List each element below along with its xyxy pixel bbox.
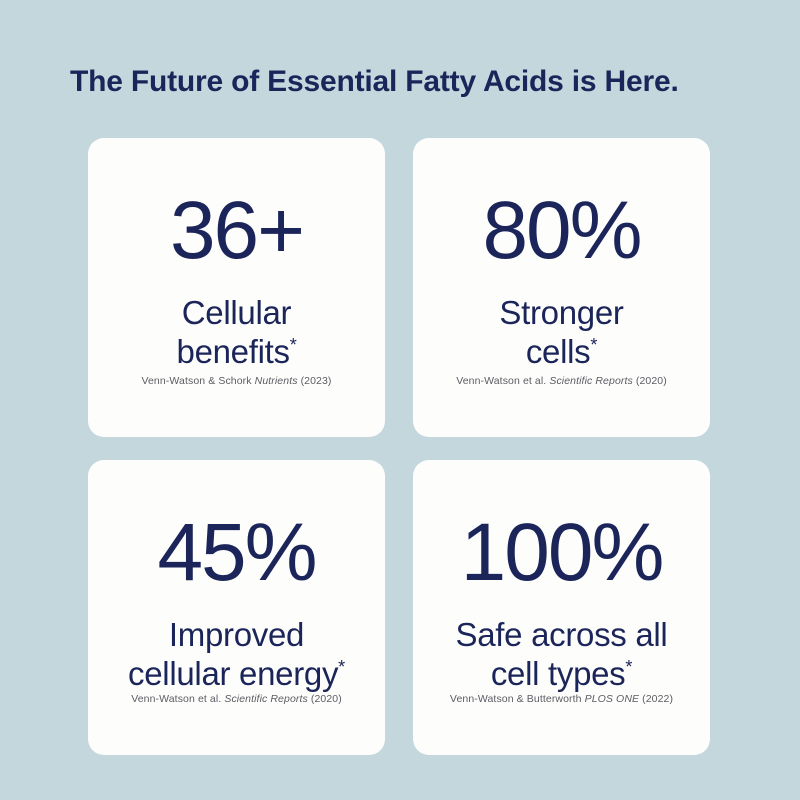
stat-value: 45% xyxy=(157,512,315,594)
citation-journal: Scientific Reports xyxy=(224,693,308,705)
citation-journal: Scientific Reports xyxy=(549,375,633,387)
stat-value: 36+ xyxy=(170,190,303,272)
stat-card-content: 45% Improved cellular energy* xyxy=(88,512,385,694)
citation-authors: Venn-Watson & Schork xyxy=(141,375,254,387)
citation-authors: Venn-Watson et al. xyxy=(456,375,549,387)
asterisk-marker: * xyxy=(590,335,597,355)
stat-citation: Venn-Watson & Schork Nutrients (2023) xyxy=(88,374,385,388)
citation-authors: Venn-Watson & Butterworth xyxy=(450,693,585,705)
stat-label-line-1: Stronger xyxy=(499,294,623,331)
citation-year: (2022) xyxy=(639,693,673,705)
page-title: The Future of Essential Fatty Acids is H… xyxy=(70,62,770,102)
stat-label-line-2: benefits xyxy=(177,333,290,370)
stat-card-content: 36+ Cellular benefits* xyxy=(88,190,385,372)
stat-value: 100% xyxy=(461,512,663,594)
asterisk-marker: * xyxy=(338,657,345,677)
stat-card-content: 100% Safe across all cell types* xyxy=(413,512,710,694)
stat-label-line-2: cells xyxy=(526,333,591,370)
stat-citation: Venn-Watson et al. Scientific Reports (2… xyxy=(413,374,710,388)
stat-citation: Venn-Watson et al. Scientific Reports (2… xyxy=(88,692,385,706)
stat-card-content: 80% Stronger cells* xyxy=(413,190,710,372)
citation-year: (2023) xyxy=(298,375,332,387)
stat-card-grid: 36+ Cellular benefits* Venn-Watson & Sch… xyxy=(88,138,710,755)
stat-label-line-2: cellular energy xyxy=(128,655,338,692)
stat-card: 36+ Cellular benefits* Venn-Watson & Sch… xyxy=(88,138,385,437)
citation-authors: Venn-Watson et al. xyxy=(131,693,224,705)
citation-year: (2020) xyxy=(633,375,667,387)
stat-label-line-1: Improved xyxy=(169,616,304,653)
stat-card: 45% Improved cellular energy* Venn-Watso… xyxy=(88,460,385,755)
stat-card: 80% Stronger cells* Venn-Watson et al. S… xyxy=(413,138,710,437)
stat-label-line-1: Safe across all xyxy=(456,616,668,653)
stat-label: Improved cellular energy* xyxy=(128,616,345,694)
stat-card: 100% Safe across all cell types* Venn-Wa… xyxy=(413,460,710,755)
citation-year: (2020) xyxy=(308,693,342,705)
promo-page: The Future of Essential Fatty Acids is H… xyxy=(0,0,800,800)
stat-label-line-2: cell types xyxy=(491,655,626,692)
stat-label: Safe across all cell types* xyxy=(456,616,668,694)
stat-label: Cellular benefits* xyxy=(177,294,297,372)
stat-citation: Venn-Watson & Butterworth PLOS ONE (2022… xyxy=(413,692,710,706)
stat-label-line-1: Cellular xyxy=(182,294,291,331)
asterisk-marker: * xyxy=(625,657,632,677)
stat-value: 80% xyxy=(482,190,640,272)
citation-journal: Nutrients xyxy=(255,375,298,387)
asterisk-marker: * xyxy=(290,335,297,355)
stat-label: Stronger cells* xyxy=(499,294,623,372)
citation-journal: PLOS ONE xyxy=(585,693,639,705)
